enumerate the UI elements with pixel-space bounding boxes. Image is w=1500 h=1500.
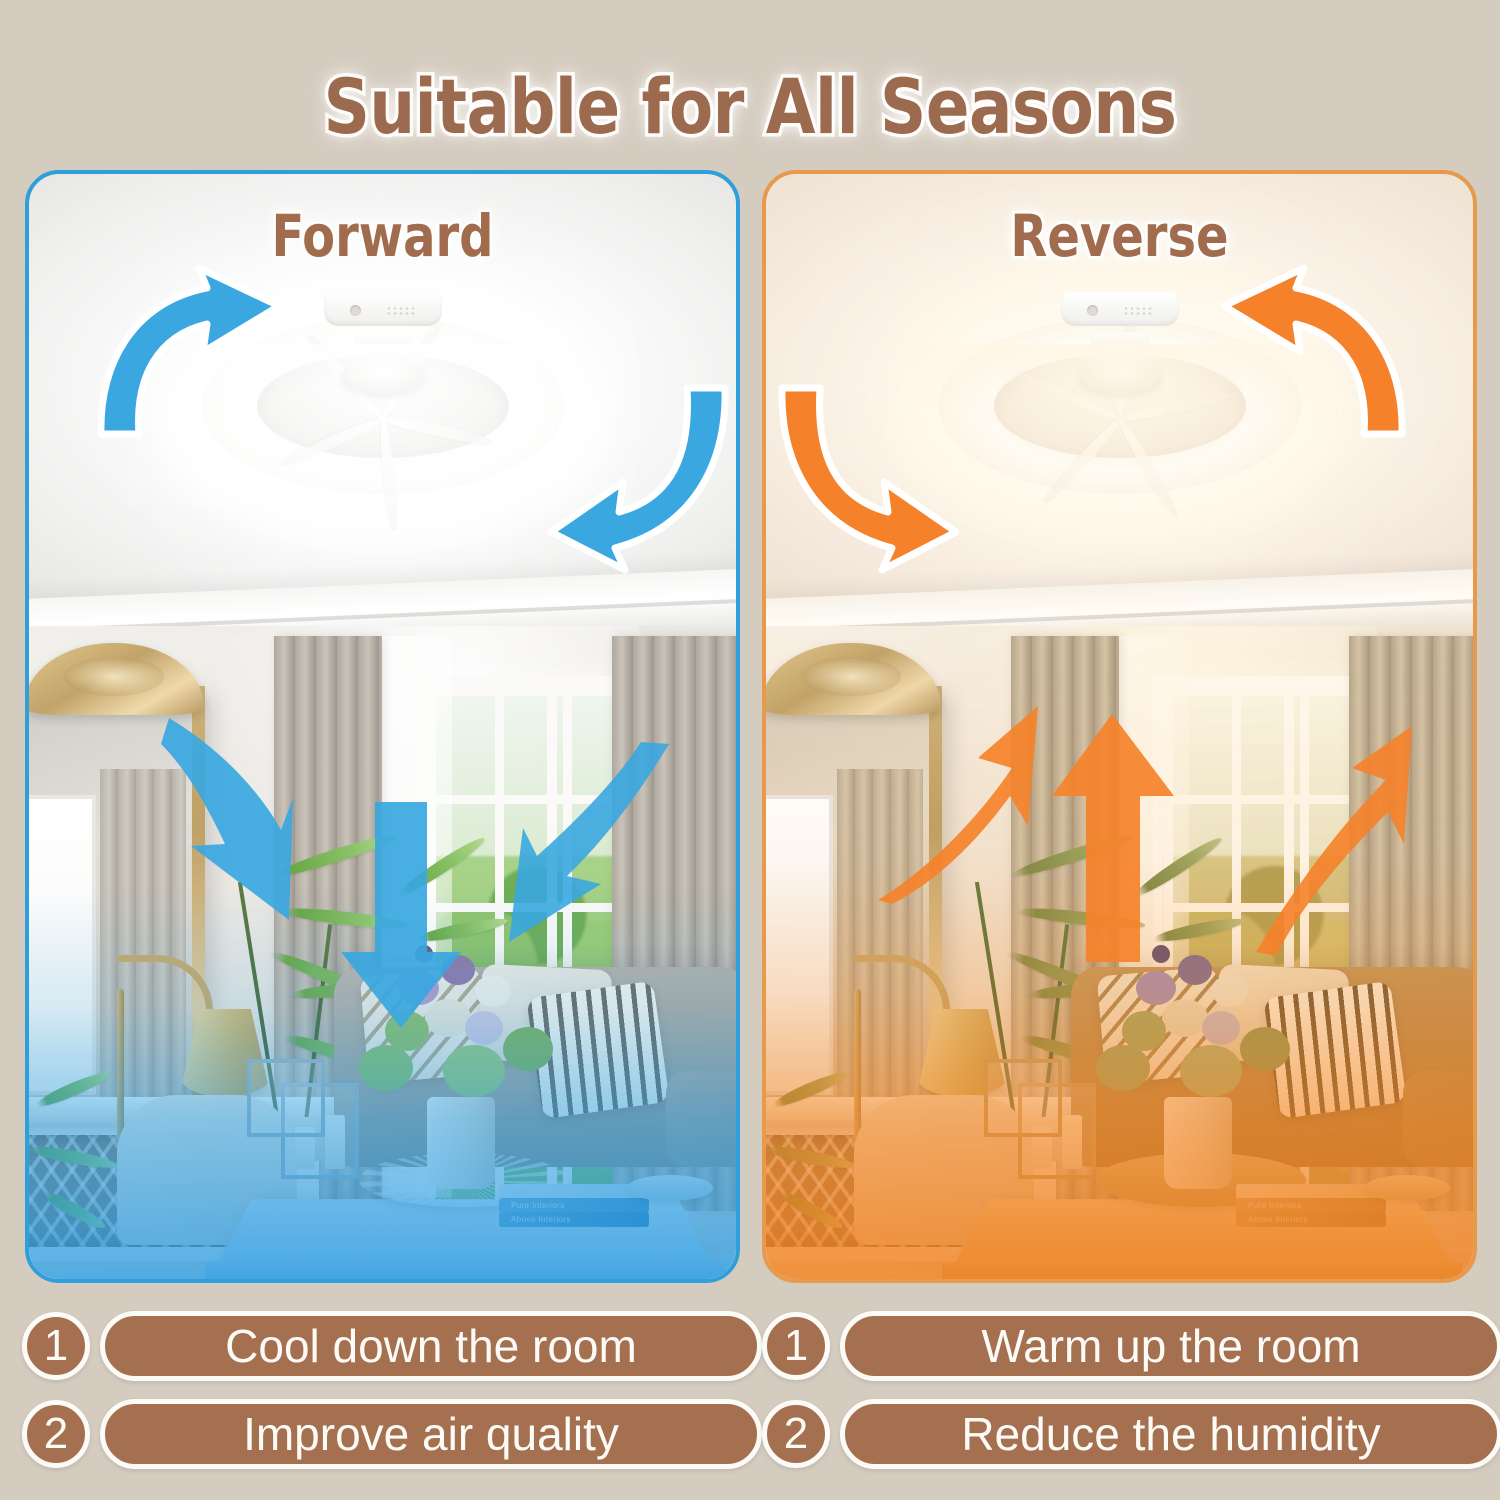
glass-lantern-back xyxy=(247,1059,325,1137)
fan-canopy xyxy=(1061,292,1179,326)
fern-frond xyxy=(766,1143,855,1171)
flower-lilac xyxy=(1202,1011,1240,1045)
fern-frond xyxy=(29,1143,118,1171)
flower-white xyxy=(1212,975,1248,1007)
foliage-sprig xyxy=(1180,1045,1242,1097)
book: Above Interiors xyxy=(1236,1212,1386,1227)
room-arrow-up-center xyxy=(1048,712,1176,964)
caption-badge: 2 xyxy=(22,1400,90,1468)
coffee-table-edge xyxy=(942,1263,1462,1279)
captions-container: 1 Cool down the room 2 Improve air quali… xyxy=(0,1302,1500,1500)
canopy-vent-holes xyxy=(386,306,416,316)
caption-badge: 1 xyxy=(762,1312,830,1380)
panel-reverse: Pure Interiors Above Interiors xyxy=(762,170,1477,1283)
ceiling-arrow-down-left xyxy=(776,382,958,574)
fan-canopy xyxy=(324,292,442,326)
book-title: Pure Interiors xyxy=(1248,1201,1302,1210)
book: Pure Interiors xyxy=(1236,1198,1386,1213)
ceramic-vase xyxy=(1164,1097,1232,1189)
ceiling-arrow-up-left xyxy=(1218,266,1408,441)
fan-hub xyxy=(341,358,425,394)
book: Above Interiors xyxy=(499,1212,649,1227)
flower-bouquet xyxy=(1082,941,1332,1121)
panel-label-forward: Forward xyxy=(57,202,707,270)
book: Pure Interiors xyxy=(499,1198,649,1213)
ceramic-plate xyxy=(1364,1175,1450,1201)
book-title: Pure Interiors xyxy=(511,1201,565,1210)
caption-pill-improve-air: Improve air quality xyxy=(100,1399,762,1469)
fan-blade xyxy=(278,414,385,470)
canopy-indicator-dot xyxy=(1087,305,1098,316)
flower-lilac xyxy=(465,1011,503,1045)
caption-pill-reduce-humidity: Reduce the humidity xyxy=(840,1399,1500,1469)
book-title: Above Interiors xyxy=(1248,1215,1308,1224)
panel-reverse-inner: Pure Interiors Above Interiors xyxy=(766,174,1473,1279)
fan-hub xyxy=(1078,358,1162,394)
panel-forward-inner: Pure Interiors Above Interiors xyxy=(29,174,736,1279)
caption-row: 2 Reduce the humidity xyxy=(762,1390,1500,1478)
ceiling-arrow-down-right xyxy=(549,382,731,574)
fan-blade xyxy=(1118,390,1230,424)
panel-label-reverse: Reverse xyxy=(794,202,1444,270)
captions-reverse: 1 Warm up the room 2 Reduce the humidity xyxy=(762,1302,1500,1478)
room-arrow-down-right xyxy=(509,742,677,954)
canopy-indicator-dot xyxy=(350,305,361,316)
coffee-table-edge xyxy=(205,1263,725,1279)
ceiling-arrow-up-right xyxy=(95,266,285,441)
fern-frond xyxy=(34,1067,112,1111)
ceramic-vase xyxy=(427,1097,495,1189)
candle xyxy=(325,1115,345,1169)
sofa-arm xyxy=(1403,1071,1473,1167)
caption-row: 1 Warm up the room xyxy=(762,1302,1500,1390)
foliage-sprig xyxy=(443,1045,505,1097)
captions-forward: 1 Cool down the room 2 Improve air quali… xyxy=(22,1302,762,1478)
panel-forward: Pure Interiors Above Interiors xyxy=(25,170,740,1283)
foliage-sprig xyxy=(359,1045,413,1091)
candle xyxy=(1062,1115,1082,1169)
caption-badge: 1 xyxy=(22,1312,90,1380)
fan-blade xyxy=(381,414,493,448)
page-title: Suitable for All Seasons xyxy=(45,62,1455,151)
foliage-sprig xyxy=(1240,1027,1290,1071)
panels-container: Pure Interiors Above Interiors xyxy=(0,170,1500,1290)
fern-frond xyxy=(777,1188,845,1233)
flower-lilac xyxy=(1178,955,1212,985)
fern-frond xyxy=(771,1067,849,1111)
flower-white xyxy=(475,975,511,1007)
foliage-sprig xyxy=(1096,1045,1150,1091)
foliage-sprig xyxy=(503,1027,553,1071)
caption-row: 2 Improve air quality xyxy=(22,1390,762,1478)
caption-badge: 2 xyxy=(762,1400,830,1468)
room-arrow-up-right xyxy=(1246,724,1416,956)
room-arrow-down-left xyxy=(161,714,297,934)
fern-frond xyxy=(40,1188,108,1233)
ceramic-plate xyxy=(627,1175,713,1201)
flower-white xyxy=(1162,999,1208,1037)
caption-row: 1 Cool down the room xyxy=(22,1302,762,1390)
canopy-vent-holes xyxy=(1123,306,1153,316)
book-title: Above Interiors xyxy=(511,1215,571,1224)
sofa-arm xyxy=(666,1071,736,1167)
glass-lantern-back xyxy=(984,1059,1062,1137)
room-arrow-down-center xyxy=(339,802,463,1032)
caption-pill-cool-down: Cool down the room xyxy=(100,1311,762,1381)
room-arrow-up-left xyxy=(862,704,1042,904)
flower-lilac xyxy=(1136,971,1176,1005)
caption-pill-warm-up: Warm up the room xyxy=(840,1311,1500,1381)
